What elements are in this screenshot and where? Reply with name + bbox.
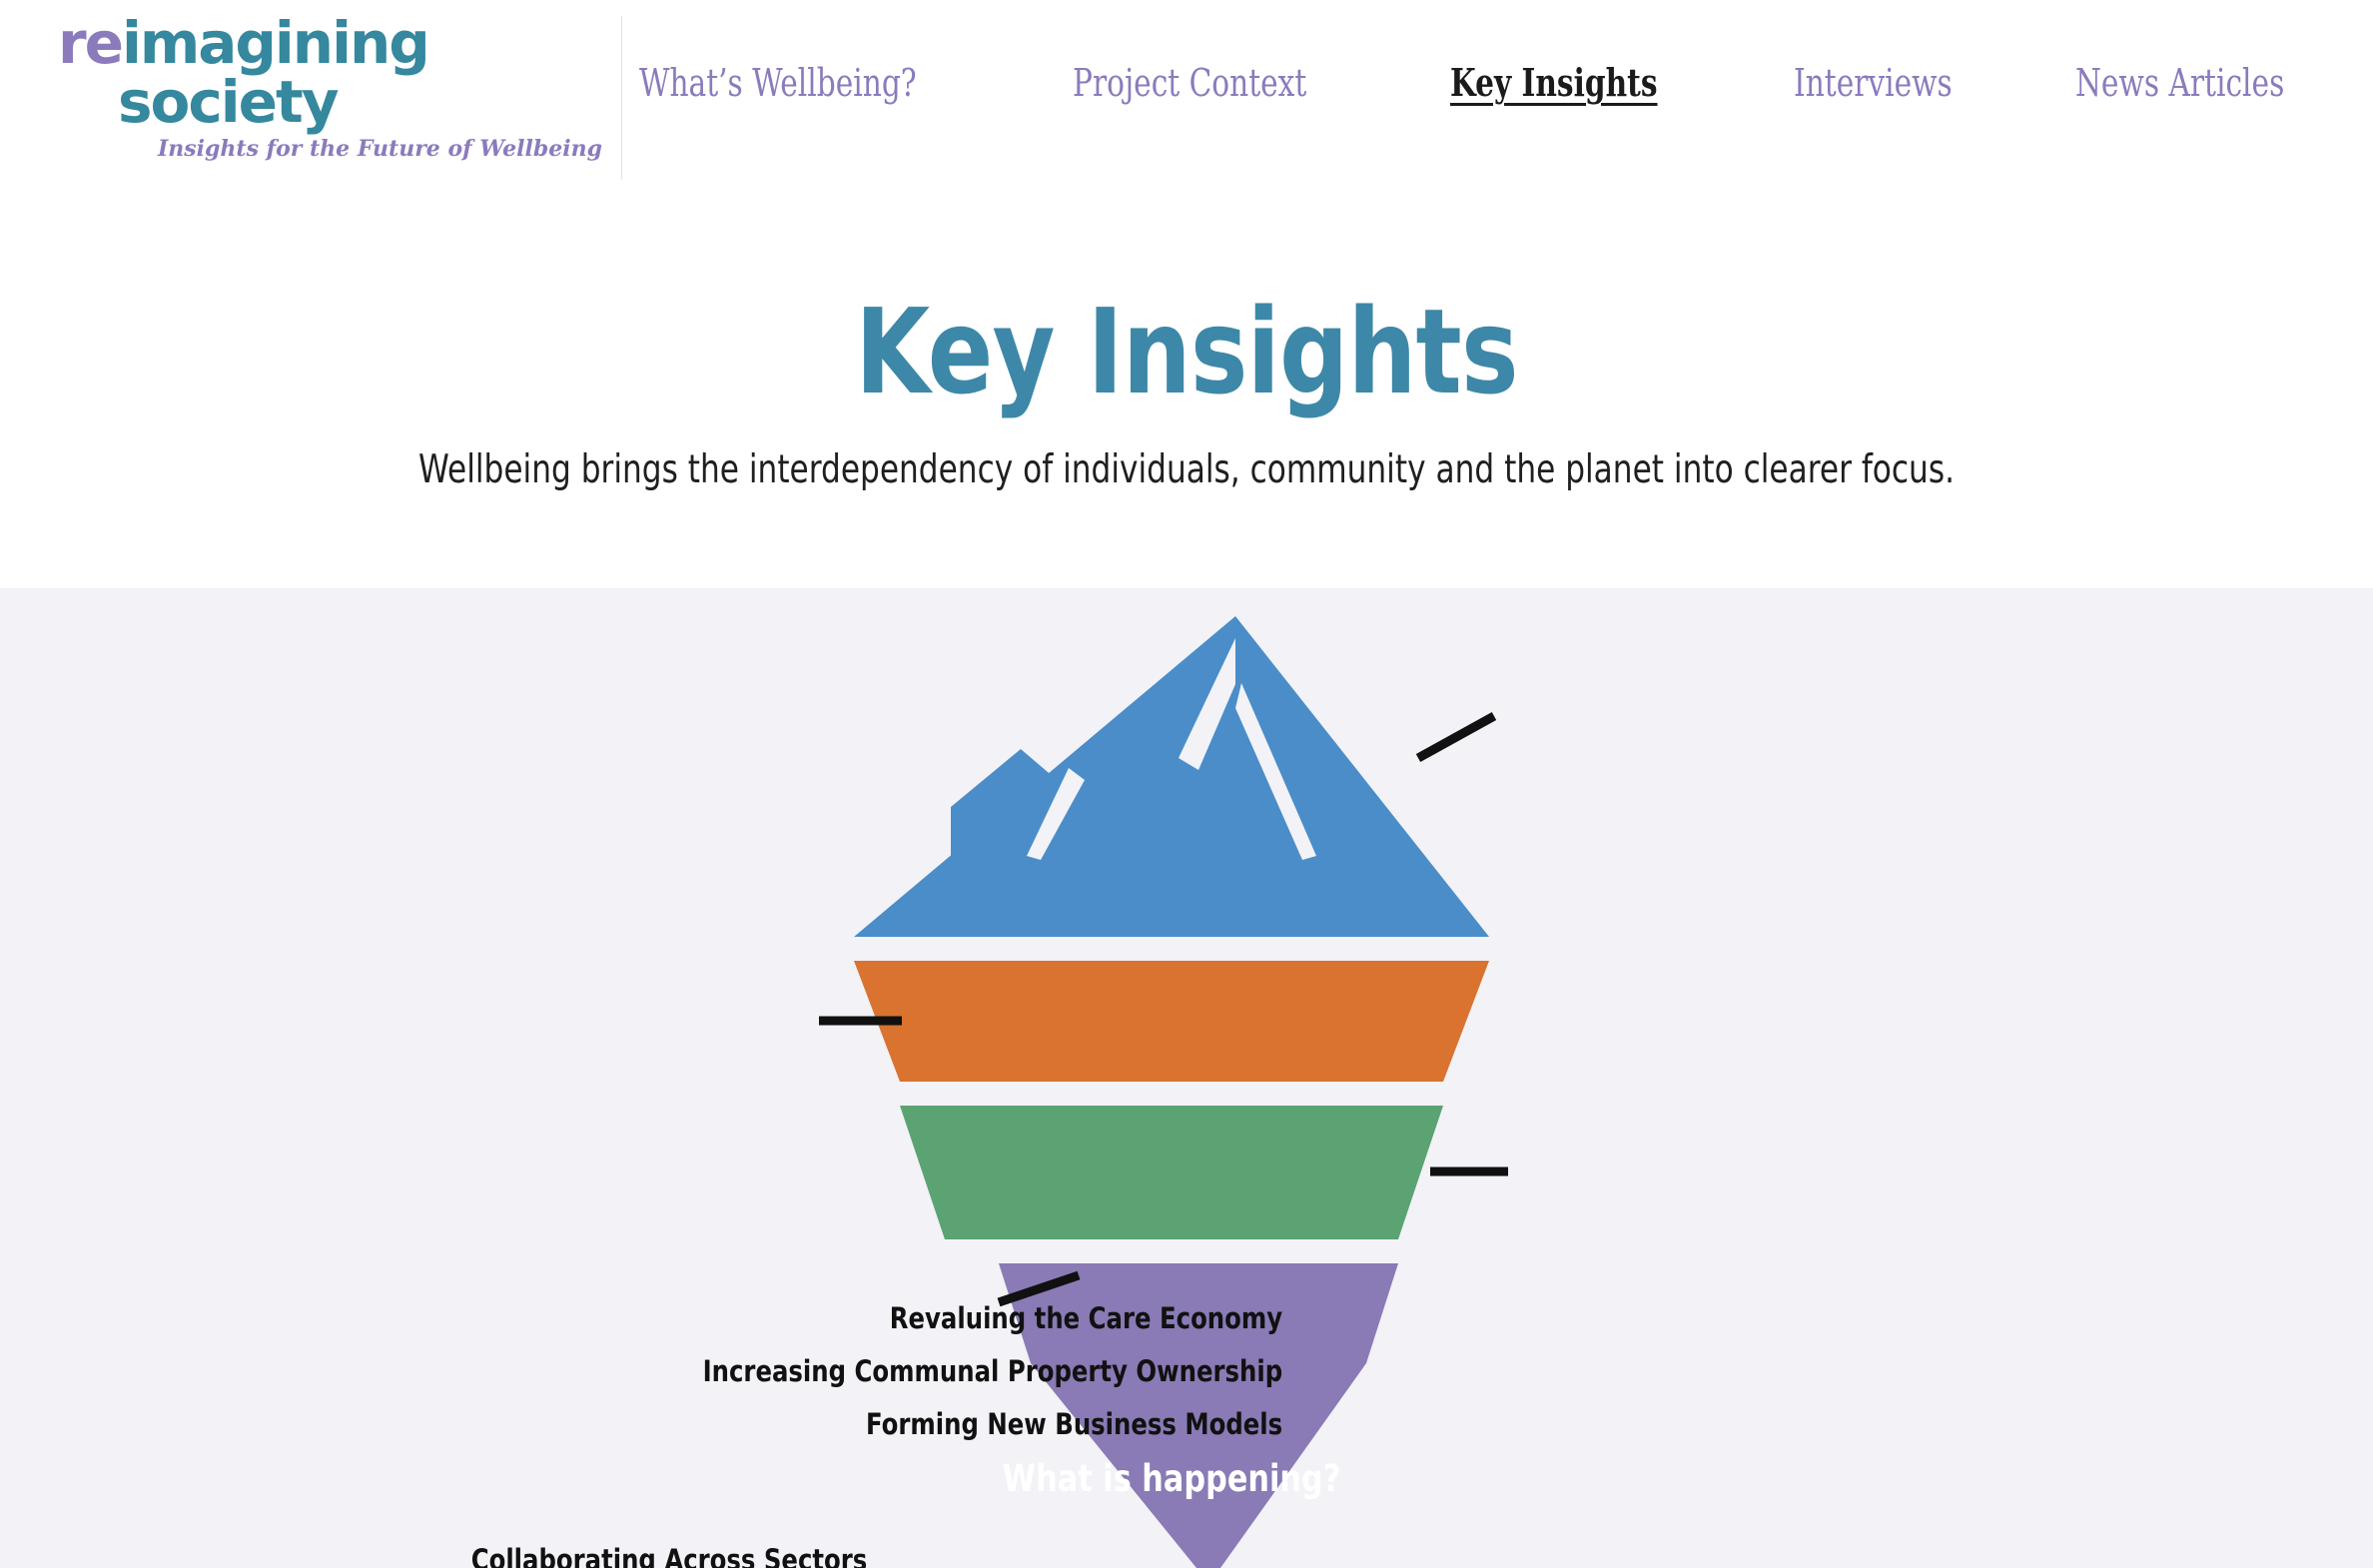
- page-subtitle: Wellbeing brings the interdependency of …: [238, 447, 2136, 493]
- main-navigation: What’s Wellbeing? Project Context Key In…: [639, 58, 2373, 108]
- layer-changing-shape[interactable]: [854, 961, 1489, 1082]
- nav-item-news-articles[interactable]: News Articles: [2075, 61, 2284, 105]
- annotation-item: Revaluing the Care Economy: [702, 1292, 1282, 1345]
- logo-text-imagining: imagining: [122, 9, 428, 77]
- site-logo[interactable]: reimagining society Insights for the Fut…: [58, 14, 557, 174]
- annotation-item: Collaborating Across Sectors: [442, 1534, 896, 1568]
- nav-item-project-context[interactable]: Project Context: [1073, 61, 1306, 105]
- hero-section: Key Insights Wellbeing brings the interd…: [0, 196, 2373, 588]
- logo-tagline: Insights for the Future of Wellbeing: [158, 136, 557, 162]
- connector-line-happening: [1418, 716, 1494, 758]
- nav-item-interviews[interactable]: Interviews: [1794, 61, 1953, 105]
- layer-structures-shape[interactable]: [900, 1106, 1443, 1239]
- insights-diagram-section: What is happening? What is changing? Wha…: [0, 588, 2373, 1568]
- annotations-happening: Revaluing the Care Economy Increasing Co…: [592, 1292, 1282, 1451]
- logo-line-one: reimagining: [58, 14, 557, 72]
- site-header: reimagining society Insights for the Fut…: [0, 0, 2373, 196]
- annotation-item: Forming New Business Models: [702, 1398, 1282, 1451]
- nav-item-key-insights[interactable]: Key Insights: [1450, 61, 1658, 105]
- layer-happening-shape[interactable]: [854, 616, 1489, 937]
- page-root: reimagining society Insights for the Fut…: [0, 0, 2373, 1568]
- mountain-main-body: [854, 616, 1489, 937]
- page-title: Key Insights: [214, 292, 2159, 411]
- annotations-changing: Collaborating Across Sectors Designing a…: [399, 1534, 939, 1568]
- logo-text-re: re: [58, 9, 122, 77]
- nav-item-whats-wellbeing[interactable]: What’s Wellbeing?: [639, 61, 917, 105]
- header-divider: [621, 16, 622, 180]
- annotation-item: Increasing Communal Property Ownership: [702, 1345, 1282, 1398]
- logo-text-society: society: [118, 72, 557, 132]
